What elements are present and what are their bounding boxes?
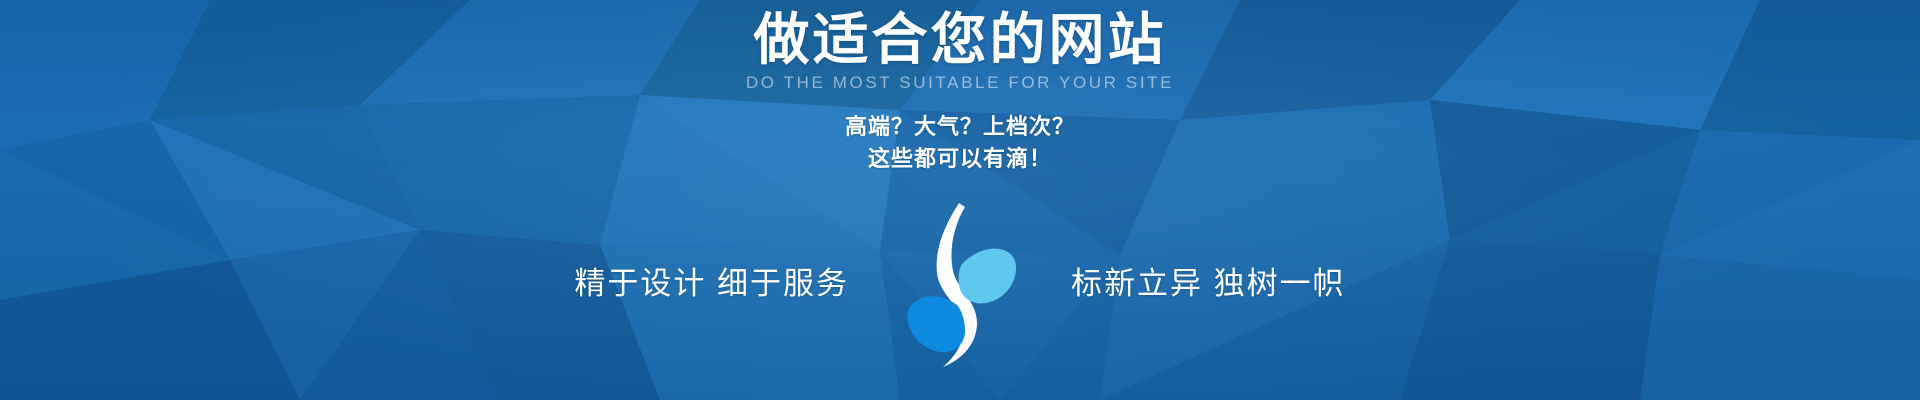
banner-headline: 做适合您的网站	[754, 12, 1167, 68]
slogan-row: 精于设计 细于服务 标新立异 独树一帜	[0, 197, 1920, 371]
promo-line-2: 这些都可以有滴！	[845, 143, 1075, 175]
banner-promo-text: 高端？大气？上档次？ 这些都可以有滴！	[845, 111, 1075, 175]
promo-line-1: 高端？大气？上档次？	[845, 111, 1075, 143]
leaf-sprout-logo-icon	[901, 201, 1019, 371]
slogan-left: 精于设计 细于服务	[574, 268, 849, 299]
banner-content: 做适合您的网站 DO THE MOST SUITABLE FOR YOUR SI…	[0, 0, 1920, 400]
slogan-right: 标新立异 独树一帜	[1071, 268, 1346, 299]
hero-banner: 做适合您的网站 DO THE MOST SUITABLE FOR YOUR SI…	[0, 0, 1920, 400]
banner-subheadline-english: DO THE MOST SUITABLE FOR YOUR SITE	[746, 74, 1174, 91]
